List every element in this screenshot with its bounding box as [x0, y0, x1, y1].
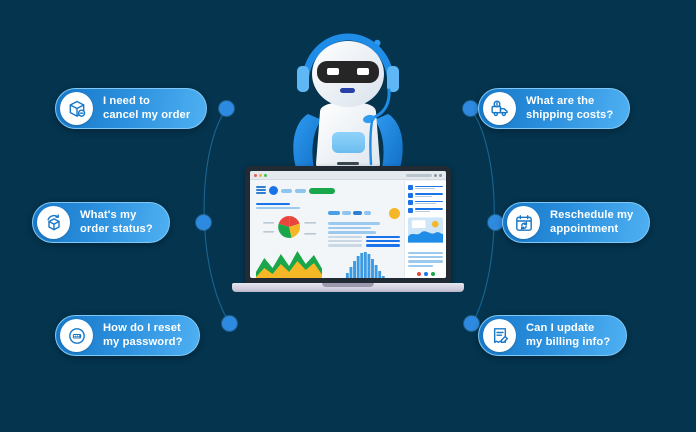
robot-right-earcup	[387, 66, 399, 92]
delivery-truck-icon	[483, 92, 516, 125]
question-pill-label: What's my order status?	[80, 209, 153, 236]
browser-minimize-dot[interactable]	[259, 174, 262, 177]
robot-left-earcup	[297, 66, 309, 92]
node-dot-cancel-order[interactable]	[219, 101, 234, 116]
browser-maximize-dot[interactable]	[264, 174, 267, 177]
question-pill-reset-password[interactable]: How do I reset my password?	[55, 315, 200, 356]
avatar	[269, 186, 278, 195]
node-dot-shipping-costs[interactable]	[463, 101, 478, 116]
illustration-canvas: I need to cancel my order What's my orde…	[0, 0, 696, 432]
histogram-chart	[328, 251, 400, 278]
charts-region	[256, 211, 400, 278]
robot-left-eye	[327, 68, 339, 75]
question-pill-label: Reschedule my appointment	[550, 209, 633, 236]
media-card	[408, 217, 443, 243]
password-key-icon	[60, 319, 93, 352]
left-charts	[256, 211, 322, 278]
question-pill-label: I need to cancel my order	[103, 95, 190, 122]
invoice-edit-icon	[483, 319, 516, 352]
toolbar-chip	[281, 189, 292, 193]
right-charts	[328, 211, 400, 278]
browser-profile-icon[interactable]	[439, 174, 442, 177]
browser-menu-icon[interactable]	[434, 174, 437, 177]
question-pill-cancel-order[interactable]: I need to cancel my order	[55, 88, 207, 129]
question-pill-order-status[interactable]: What's my order status?	[32, 202, 170, 243]
section-heading	[256, 203, 290, 205]
robot-right-eye	[357, 68, 369, 75]
menu-icon[interactable]	[256, 186, 266, 196]
robot-chest-panel	[332, 132, 365, 153]
section-subtext	[256, 207, 300, 209]
laptop-dashboard	[232, 166, 464, 300]
question-pill-label: What are the shipping costs?	[526, 95, 613, 122]
laptop-screen	[250, 171, 446, 278]
package-box-icon	[60, 92, 93, 125]
laptop-camera	[337, 162, 359, 165]
dashboard-main-pane	[250, 181, 404, 278]
dashboard-side-pane	[404, 181, 446, 278]
browser-url-bar[interactable]	[406, 174, 432, 177]
browser-close-dot[interactable]	[254, 174, 257, 177]
node-dot-reschedule-appointment[interactable]	[488, 215, 503, 230]
question-pill-shipping-costs[interactable]: What are the shipping costs?	[478, 88, 630, 129]
package-refresh-icon	[37, 206, 70, 239]
question-pill-reschedule-appointment[interactable]: Reschedule my appointment	[502, 202, 650, 243]
primary-action-button[interactable]	[309, 188, 335, 194]
question-pill-label: Can I update my billing info?	[526, 322, 610, 349]
robot-mouth	[340, 88, 355, 93]
laptop-trackpad-notch	[322, 283, 374, 287]
pie-chart	[256, 211, 322, 241]
area-chart	[256, 246, 322, 278]
dashboard-toolbar	[256, 186, 400, 196]
support-robot	[284, 28, 412, 176]
dashboard-page	[250, 181, 446, 278]
toolbar-chip	[295, 189, 306, 193]
robot-visor	[317, 61, 379, 83]
browser-chrome	[250, 171, 446, 180]
node-dot-order-status[interactable]	[196, 215, 211, 230]
question-pill-update-billing[interactable]: Can I update my billing info?	[478, 315, 627, 356]
calendar-refresh-icon	[507, 206, 540, 239]
node-dot-reset-password[interactable]	[222, 316, 237, 331]
question-pill-label: How do I reset my password?	[103, 322, 183, 349]
node-dot-update-billing[interactable]	[464, 316, 479, 331]
laptop-lid	[245, 166, 451, 283]
